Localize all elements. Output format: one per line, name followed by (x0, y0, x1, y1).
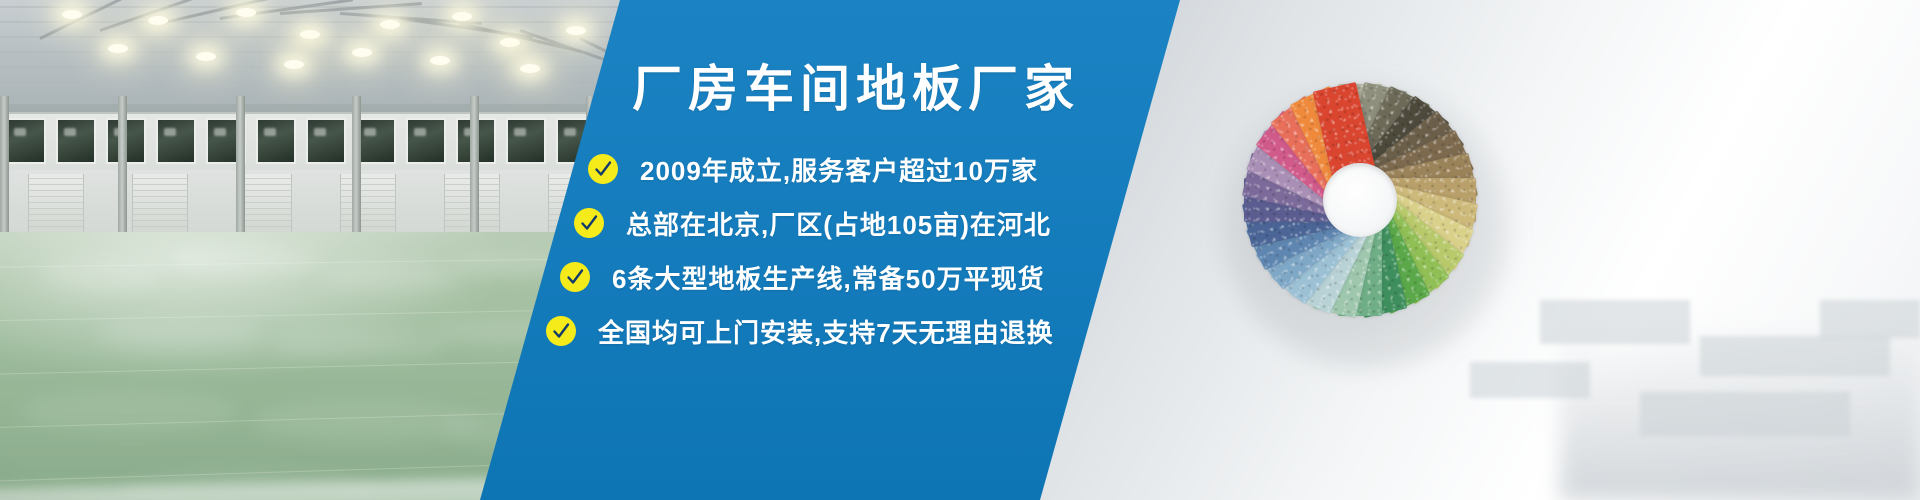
pvc-flooring-color-fan (1190, 30, 1530, 370)
list-item: 总部在北京,厂区(占地105亩)在河北 (574, 196, 1134, 250)
list-item-label: 2009年成立,服务客户超过10万家 (640, 151, 1038, 188)
check-circle-icon (574, 208, 604, 238)
background-block (1700, 336, 1890, 376)
background-block (1540, 300, 1690, 344)
check-circle-icon (546, 316, 576, 346)
check-circle-icon (560, 262, 590, 292)
background-block (1640, 392, 1850, 436)
banner-content: 厂房车间地板厂家 2009年成立,服务客户超过10万家 总部在北京,厂区(占地1… (560, 0, 1120, 500)
fan-center-hole (1323, 163, 1397, 237)
background-block (1820, 300, 1920, 338)
page-title: 厂房车间地板厂家 (632, 64, 1080, 114)
promo-banner: 厂房车间地板厂家 2009年成立,服务客户超过10万家 总部在北京,厂区(占地1… (0, 0, 1920, 500)
list-item: 2009年成立,服务客户超过10万家 (588, 142, 1148, 196)
list-item: 全国均可上门安装,支持7天无理由退换 (546, 304, 1106, 358)
check-circle-icon (588, 154, 618, 184)
list-item-label: 总部在北京,厂区(占地105亩)在河北 (626, 205, 1051, 242)
list-item-label: 全国均可上门安装,支持7天无理由退换 (598, 313, 1054, 350)
feature-list: 2009年成立,服务客户超过10万家 总部在北京,厂区(占地105亩)在河北 6… (560, 142, 1120, 358)
list-item: 6条大型地板生产线,常备50万平现货 (560, 250, 1120, 304)
list-item-label: 6条大型地板生产线,常备50万平现货 (612, 259, 1045, 296)
